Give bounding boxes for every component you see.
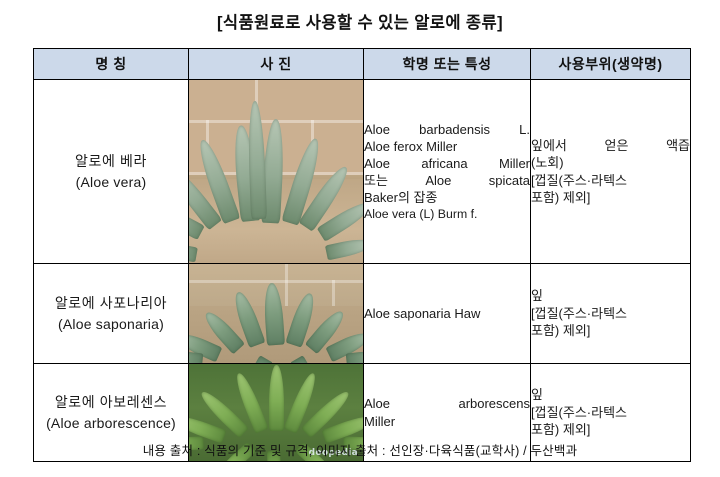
column-header-name: 명 칭 xyxy=(34,49,189,80)
scientific-name-line: Aloe barbadensis L. xyxy=(364,121,530,138)
usage-line: 잎 xyxy=(531,287,690,304)
species-name-korean: 알로에 베라 xyxy=(34,151,188,171)
scientific-name-line: Miller xyxy=(364,413,530,430)
aloe-vera-photo xyxy=(189,80,363,263)
scientific-name-line: 또는 Aloe spicata xyxy=(364,172,530,189)
aloe-saponaria-photo xyxy=(189,264,363,363)
source-footnote: 내용 출처 : 식품의 기준 및 규격, 이미지 출처 : 선인장·다육식품(교… xyxy=(0,440,720,459)
usage-line: 포함) 제외] xyxy=(531,322,690,339)
usage-part-cell: 잎에서 얻은 액즙 (노회) [껍질(주스·라텍스 포함) 제외] xyxy=(531,80,691,264)
column-header-photo: 사 진 xyxy=(189,49,364,80)
usage-line: [껍질(주스·라텍스 xyxy=(531,404,690,421)
column-header-usage: 사용부위(생약명) xyxy=(531,49,691,80)
species-name-cell: 알로에 베라 (Aloe vera) xyxy=(34,80,189,264)
table-row: 알로에 베라 (Aloe vera) xyxy=(34,80,691,264)
page-title: [식품원료로 사용할 수 있는 알로에 종류] xyxy=(0,9,720,33)
species-name-korean: 알로에 아보레센스 xyxy=(34,392,188,412)
species-photo-cell xyxy=(189,264,364,364)
usage-line: 포함) 제외] xyxy=(531,421,690,438)
usage-line: [껍질(주스·라텍스 xyxy=(531,305,690,322)
scientific-name-line: Aloe africana Miller xyxy=(364,155,530,172)
usage-part-cell: 잎 [껍질(주스·라텍스 포함) 제외] xyxy=(531,264,691,364)
scientific-name-line: Aloe arborescens xyxy=(364,395,530,412)
usage-line: 잎에서 얻은 액즙 xyxy=(531,137,690,154)
usage-line: 포함) 제외] xyxy=(531,189,690,206)
table-header-row: 명 칭 사 진 학명 또는 특성 사용부위(생약명) xyxy=(34,49,691,80)
scientific-name-cell: Aloe barbadensis L. Aloe ferox Miller Al… xyxy=(364,80,531,264)
species-name-latin: (Aloe saponaria) xyxy=(34,314,188,334)
species-name-latin: (Aloe vera) xyxy=(34,172,188,192)
species-name-cell: 알로에 사포나리아 (Aloe saponaria) xyxy=(34,264,189,364)
usage-line: 잎 xyxy=(531,386,690,403)
scientific-name-cell: Aloe saponaria Haw xyxy=(364,264,531,364)
scientific-name-line: Aloe saponaria Haw xyxy=(364,305,530,322)
scientific-name-line: Aloe vera (L) Burm f. xyxy=(364,206,530,222)
column-header-scientific: 학명 또는 특성 xyxy=(364,49,531,80)
species-name-latin: (Aloe arborescence) xyxy=(34,413,188,433)
aloe-species-table: 명 칭 사 진 학명 또는 특성 사용부위(생약명) 알로에 베라 (Aloe … xyxy=(33,48,691,462)
species-photo-cell xyxy=(189,80,364,264)
aloe-table-container: 명 칭 사 진 학명 또는 특성 사용부위(생약명) 알로에 베라 (Aloe … xyxy=(33,48,690,430)
usage-line: [껍질(주스·라텍스 xyxy=(531,172,690,189)
usage-line: (노회) xyxy=(531,154,690,171)
species-name-korean: 알로에 사포나리아 xyxy=(34,293,188,313)
scientific-name-line: Aloe ferox Miller xyxy=(364,138,530,155)
scientific-name-line: Baker의 잡종 xyxy=(364,189,530,206)
document-page: [식품원료로 사용할 수 있는 알로에 종류] 명 칭 사 진 학명 또는 특성… xyxy=(0,0,720,477)
table-row: 알로에 사포나리아 (Aloe saponaria) xyxy=(34,264,691,364)
